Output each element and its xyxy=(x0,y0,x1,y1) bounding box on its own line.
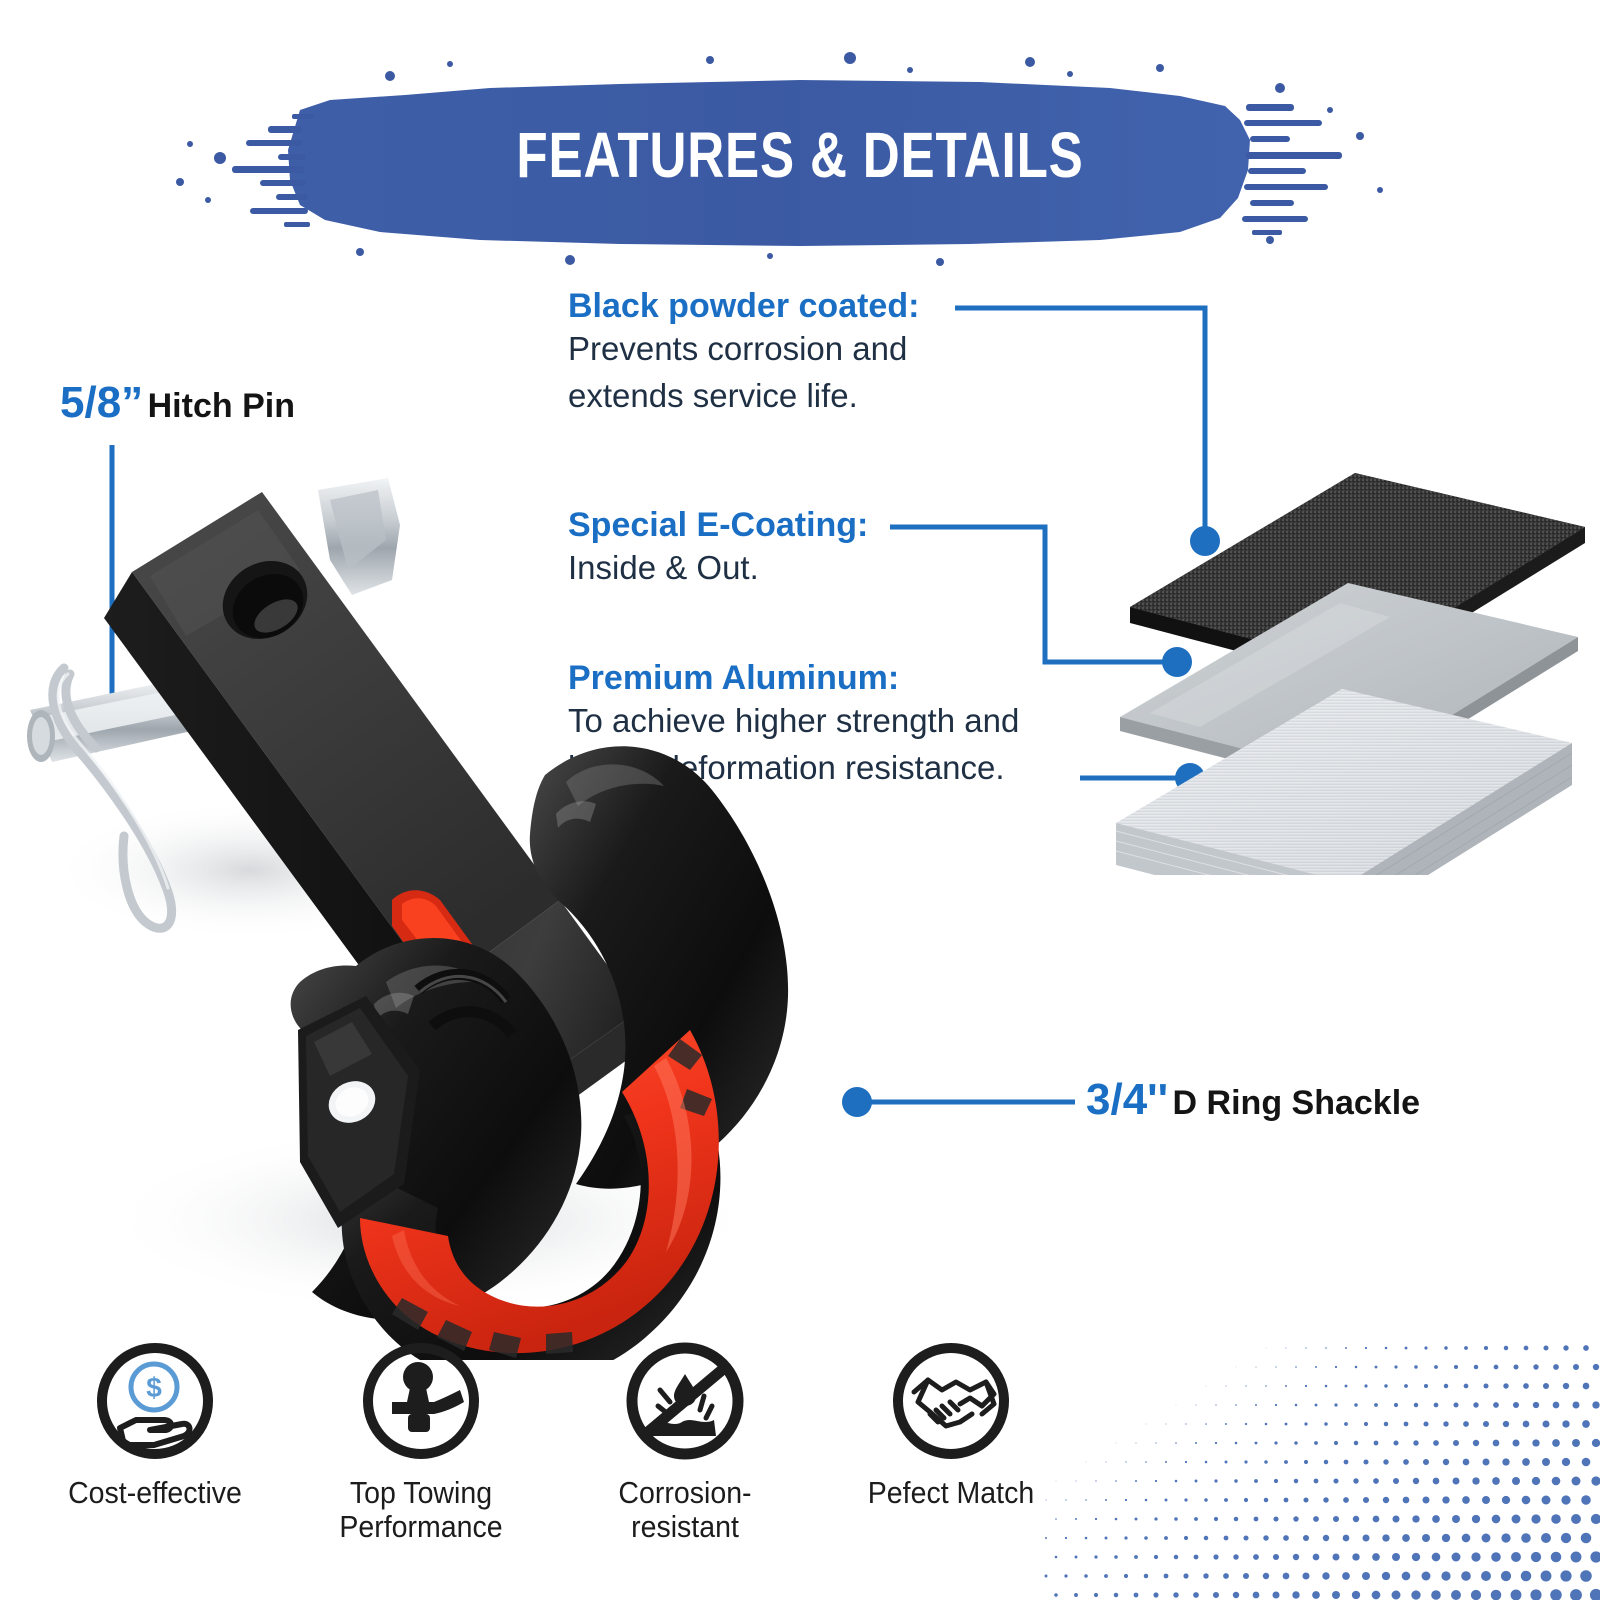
benefit-label: Pefect Match xyxy=(836,1476,1066,1510)
svg-text:$: $ xyxy=(146,1372,162,1403)
callout-line: Prevents corrosion and xyxy=(568,326,919,373)
d-ring-size: 3/4'' xyxy=(1086,1075,1168,1124)
rear-silver-bracket xyxy=(318,478,400,595)
exploded-material-layers xyxy=(1090,455,1600,875)
page-title: FEATURES & DETAILS xyxy=(280,40,1320,270)
benefit-perfect-match: Pefect Match xyxy=(826,1340,1076,1510)
halftone-decoration xyxy=(1040,1340,1600,1600)
part-label-d-ring-shackle: 3/4'' D Ring Shackle xyxy=(1086,1075,1420,1125)
part-label-hitch-pin: 5/8” Hitch Pin xyxy=(60,378,295,428)
handshake-icon xyxy=(890,1340,1012,1462)
callout-title: Black powder coated: xyxy=(568,286,919,326)
benefit-icons-row: $ Cost-effective Top Towing Performance xyxy=(30,1340,1090,1590)
hitch-pin-size: 5/8” xyxy=(60,378,143,427)
benefit-top-towing-performance: Top Towing Performance xyxy=(296,1340,546,1544)
callout-black-powder-coated: Black powder coated: Prevents corrosion … xyxy=(568,286,919,420)
infographic-canvas: FEATURES & DETAILS Black powder coated: … xyxy=(0,0,1600,1600)
benefit-cost-effective: $ Cost-effective xyxy=(30,1340,280,1510)
hitch-pin-name: Hitch Pin xyxy=(148,387,295,425)
tow-hitch-ball-icon xyxy=(360,1340,482,1462)
benefit-label: Top Towing Performance xyxy=(306,1476,536,1544)
d-ring-name: D Ring Shackle xyxy=(1173,1084,1421,1122)
product-photo-hitch-receiver-with-d-ring xyxy=(0,430,960,1360)
no-water-corrosion-icon xyxy=(624,1340,746,1462)
benefit-corrosion-resistant: Corrosion-resistant xyxy=(560,1340,810,1544)
callout-line: extends service life. xyxy=(568,373,919,420)
benefit-label: Corrosion-resistant xyxy=(570,1476,800,1544)
header-banner: FEATURES & DETAILS xyxy=(150,40,1450,270)
hand-holding-coin-icon: $ xyxy=(94,1340,216,1462)
benefit-label: Cost-effective xyxy=(40,1476,270,1510)
